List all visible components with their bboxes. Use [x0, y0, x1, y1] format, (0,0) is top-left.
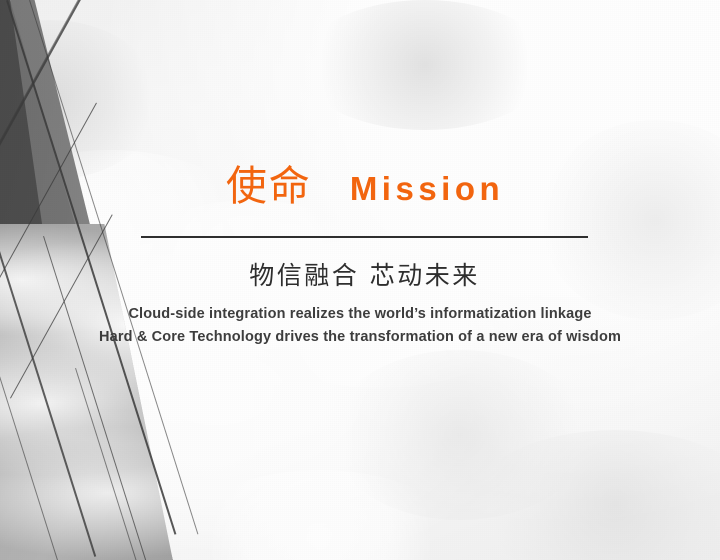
mission-banner: 使命 Mission 物信融合 芯动未来 Cloud-side integrat…: [0, 0, 720, 560]
subtitle-chinese: 物信融合 芯动未来: [141, 259, 588, 293]
page-title: 使命 Mission: [141, 166, 589, 207]
description-block: Cloud-side integration realizes the worl…: [60, 303, 660, 349]
banner-content: 使命 Mission 物信融合 芯动未来 Cloud-side integrat…: [0, 0, 720, 560]
title-divider: [141, 236, 588, 238]
title-english: Mission: [350, 172, 504, 205]
description-line-1: Cloud-side integration realizes the worl…: [60, 303, 660, 326]
description-line-2: Hard & Core Technology drives the transf…: [60, 326, 660, 349]
title-chinese: 使命: [226, 166, 312, 207]
